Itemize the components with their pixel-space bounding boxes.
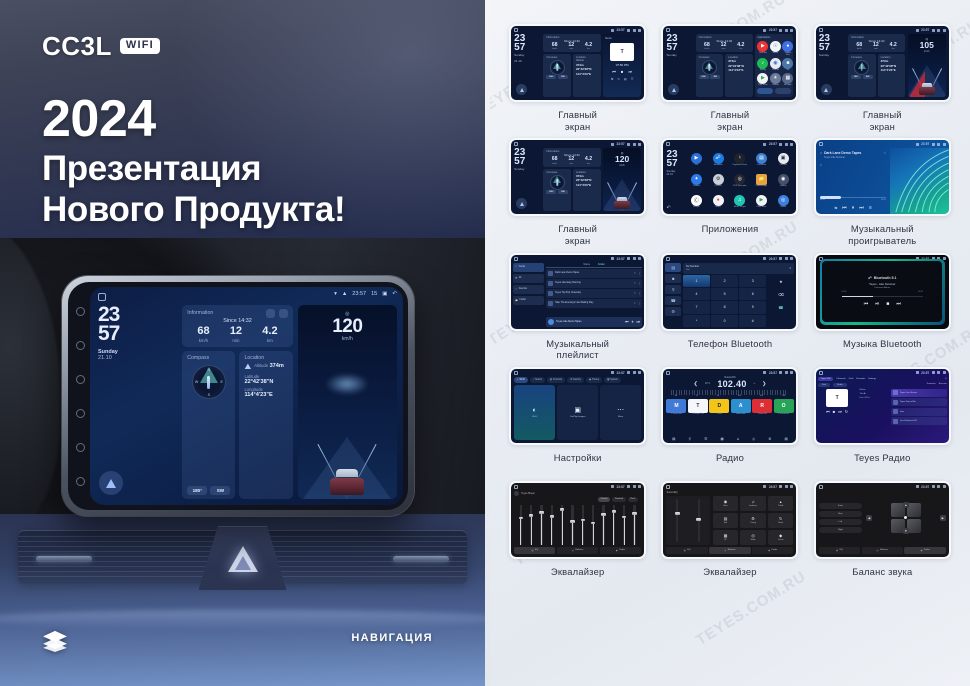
compass-widget[interactable]: Compass 180°SW <box>696 54 724 97</box>
app-item[interactable]: ●Maps <box>713 195 724 209</box>
home-icon[interactable] <box>666 371 670 375</box>
key-tuning[interactable]: ⚙Tuning <box>740 513 766 528</box>
location-widget[interactable]: Location 374m 22°42'38"N 114°4'23"E <box>573 169 601 212</box>
app-item[interactable]: ⒸEasyB <box>691 195 702 209</box>
app-shortcut[interactable]: ▶YouTube <box>757 41 768 57</box>
tab-theme[interactable]: ◉Theme <box>586 377 602 383</box>
backspace-icon[interactable]: ⌫ <box>767 288 794 300</box>
app-shortcut[interactable]: ▶Play Store <box>757 73 768 87</box>
navigation-launch-button[interactable] <box>668 84 679 95</box>
spotify-icon[interactable]: ♪ <box>757 58 768 69</box>
radio-tabbar[interactable]: ▤ ⚲ ☰ ▦ ● ◎ ⚙ ▤ <box>665 436 794 441</box>
maps-pin-icon[interactable]: ● <box>713 195 724 206</box>
back-icon[interactable]: ↶ <box>666 205 670 211</box>
dialpad-key[interactable]: 0 <box>711 315 738 327</box>
filter-recents[interactable]: Recents <box>939 383 947 387</box>
tab-balance[interactable]: ◎Balance <box>862 547 903 554</box>
sidebar-item-favorite[interactable]: ♡Favorite <box>513 285 544 294</box>
app-item[interactable]: ▶Car <box>691 153 702 167</box>
app-item[interactable]: ♮Keyboard Voice <box>733 153 748 167</box>
preset[interactable]: T2 Europa Plus <box>688 399 708 416</box>
head-unit-screen[interactable]: ▾ ▲ 23:57 15 ▣ ↶ 23 57 Sunday <box>90 287 403 505</box>
next-icon[interactable]: ⏭ <box>637 319 641 324</box>
next-icon[interactable]: ⏭ <box>628 69 632 74</box>
slider[interactable] <box>676 499 678 542</box>
screenshot-icon[interactable]: ▣ <box>382 291 387 297</box>
tab-teyes-fm[interactable]: Teyes FM <box>818 377 833 381</box>
playlist-icon[interactable]: ☰ <box>869 206 872 210</box>
tab-fader[interactable]: ◉Fader <box>600 547 641 554</box>
contacts-icon[interactable]: ☻ <box>665 274 680 283</box>
eq-band-slider[interactable] <box>633 496 635 545</box>
prev-icon[interactable]: ⏮ <box>612 69 616 74</box>
home-icon[interactable] <box>514 142 518 146</box>
prev-icon[interactable]: ⏮ <box>842 205 847 211</box>
dialpad-icon[interactable]: ▤ <box>665 263 680 272</box>
list-icon[interactable]: ☰ <box>704 437 707 441</box>
app-item[interactable]: ⚙Canbus <box>713 174 724 188</box>
chevron-right-icon[interactable]: ❯ <box>762 381 766 387</box>
play-pause-icon[interactable]: ⏯ <box>875 301 879 307</box>
mute-key-icon[interactable] <box>76 477 85 486</box>
radio-icon[interactable]: ◎ <box>778 195 789 206</box>
radio-ui[interactable]: Russia FM ❮ CH 1 102.40 ━ ❯ 8892 96100 <box>665 377 794 441</box>
key-center[interactable]: ◆Center <box>768 530 794 545</box>
app-item[interactable]: ♫Music Player <box>734 195 746 209</box>
navigation-launch-button[interactable] <box>516 198 527 209</box>
speed-widget[interactable]: ◎ 120 km/h <box>298 305 397 499</box>
eq-band-slider[interactable] <box>551 496 553 545</box>
compass-widget[interactable]: Compass 180°SW <box>543 54 571 97</box>
grid-cell[interactable]: 23:57 Sound EQ ◉Bass ♫Loudness ▴Trebl <box>658 481 801 589</box>
thumbnail-settings[interactable]: 23:57 ◐Wi-Fi ♪Sound ▤Common ⚙Factory ◉Th… <box>511 369 644 443</box>
dialpad-key[interactable]: # <box>739 315 766 327</box>
speaker-left[interactable]: Left <box>819 519 862 525</box>
media-widget[interactable]: Media T 07:50 PM ⏮ ■ ⏭ ⇆↻▤☰ <box>603 34 641 97</box>
media-extra-controls[interactable]: ⇆↻▤☰ <box>611 77 634 81</box>
filter-disk[interactable]: Disk <box>818 383 830 387</box>
playlist-tabs[interactable]: Name Folder <box>546 263 642 268</box>
teyes-radio-tabs[interactable]: Teyes FM Channels Zvuk Favorites Setting… <box>818 377 947 381</box>
play-store-icon[interactable]: ▶ <box>756 195 767 206</box>
next-icon[interactable]: ⏭ <box>859 205 864 211</box>
home-icon[interactable] <box>514 28 518 32</box>
home-icon[interactable] <box>666 142 670 146</box>
equalizer-sliders-ui[interactable]: Sound EQ ◉Bass ♫Loudness ▴Treble ▤Sub <box>666 491 793 554</box>
am-button[interactable]: ▦ <box>720 437 723 441</box>
app-shortcut[interactable]: ●Yandex Nav <box>782 41 793 57</box>
app-item[interactable]: ◎Radio <box>778 195 789 209</box>
app-shortcut[interactable]: ♪Spotify <box>757 58 768 72</box>
compass-widget[interactable]: Compass 180°SW <box>543 169 571 212</box>
search-icon[interactable]: ⚲ <box>689 437 691 441</box>
thumbnail-radio[interactable]: 23:57 Russia FM ❮ CH 1 102.40 ━ ❯ 8892 <box>663 369 796 443</box>
tab-eq[interactable]: ▤EQ <box>514 547 555 554</box>
all-apps-icon[interactable]: ▦ <box>782 73 793 84</box>
head-unit-side-keys[interactable] <box>72 294 88 498</box>
dvr-recorder-icon[interactable]: ◎ <box>734 174 745 185</box>
stop-icon[interactable]: ■ <box>886 301 889 307</box>
more-icon[interactable]: ⋮ <box>638 282 640 285</box>
grid-cell[interactable]: 23:57 ◐Wi-Fi ♪Sound ▤Common ⚙Factory ◉Th… <box>506 367 649 475</box>
home-icon[interactable] <box>819 142 823 146</box>
information-widget[interactable]: Information Since 14:32 68km/h 12min 4.2… <box>543 148 600 166</box>
thumbnail-bt-phone[interactable]: 23:57 ▤ ☻ ⚲ ☎ ⚙ No Number <box>663 255 796 329</box>
thumbnail-music-playlist[interactable]: 23:57 ♫Tracks ☰All ♡Favorite 📁Folder Nam… <box>511 255 644 329</box>
app-item[interactable]: ✦Cleaner <box>691 174 702 188</box>
play-store-icon[interactable]: ▶ <box>757 73 768 84</box>
thumbnail-app-drawer[interactable]: 23:57 23 57 Sunday 21.10 ↶ ▶Car ☍Bluetoo… <box>663 140 796 214</box>
app-grid[interactable]: ▶Car ☍Bluetooth ♮Keyboard Voice ▤Calcula… <box>686 149 793 211</box>
speed-widget[interactable]: ◎ 105 km/h <box>908 34 946 97</box>
tab-name[interactable]: Name <box>584 263 590 266</box>
grid-cell[interactable]: 23:57 23 57 Sunday Information Since 14:… <box>506 138 649 246</box>
grid-cell[interactable]: 23:57 23 57 Sunday 21.10 Information <box>506 24 649 132</box>
tab-system[interactable]: ▦System <box>604 377 621 383</box>
dock-button-1[interactable] <box>757 88 773 94</box>
next-icon[interactable]: ⏭ <box>838 409 842 414</box>
search-icon[interactable]: ⚲ <box>665 285 680 294</box>
station-item[interactable]: Local Stations FM <box>891 417 947 425</box>
up-arrow-icon[interactable]: ▲ <box>903 502 909 508</box>
preset[interactable]: A4 Avtoradio <box>731 399 751 416</box>
home-icon[interactable] <box>819 371 823 375</box>
information-widget[interactable]: Information Since 14:32 68km/h 12min 4.2… <box>696 34 753 52</box>
app-item[interactable]: ☍Bluetooth <box>713 153 724 167</box>
heart-icon[interactable]: ♡ <box>634 272 636 275</box>
navigation-pin-icon[interactable]: ● <box>782 41 793 52</box>
prev-icon[interactable]: ⏮ <box>826 409 830 414</box>
star-icon[interactable]: ★ <box>767 275 794 287</box>
heart-icon[interactable]: ♡ <box>634 292 636 295</box>
tab-favorites[interactable]: Favorites <box>856 378 865 380</box>
cleaner-icon[interactable]: ✦ <box>691 174 702 185</box>
home-icon[interactable] <box>666 257 670 261</box>
playlist-sidebar[interactable]: ♫Tracks ☰All ♡Favorite 📁Folder <box>513 263 544 327</box>
eq-band-slider[interactable] <box>530 496 532 545</box>
teyes-radio-ui[interactable]: Teyes FM Channels Zvuk Favorites Setting… <box>818 377 947 441</box>
location-widget[interactable]: Location 374m 22°42'38"N 114°4'23"E <box>878 54 906 97</box>
balance-pad[interactable]: ▲ ▼ ◀ ▶ <box>866 503 946 533</box>
grid-cell[interactable]: 23:57 ♫Tracks ☰All ♡Favorite 📁Folder Nam… <box>506 253 649 361</box>
location-widget[interactable]: Location ⛰ Altitude 374m <box>239 351 292 499</box>
easyb-icon[interactable]: Ⓒ <box>691 195 702 206</box>
home-icon[interactable] <box>819 28 823 32</box>
stop-icon[interactable]: ■ <box>621 69 623 74</box>
key-3d[interactable]: ▦3D <box>713 530 739 545</box>
call-icon[interactable]: ☎ <box>767 301 794 313</box>
dock-row[interactable] <box>757 88 791 94</box>
key-mode[interactable]: ◎Mode <box>740 530 766 545</box>
grid-cell[interactable]: 23:57 Front Rear Left Right ▲ ▼ <box>811 481 954 589</box>
dialpad-key[interactable]: 9 <box>739 301 766 313</box>
settings-gear-icon[interactable] <box>266 309 275 318</box>
key-loudness[interactable]: ♫Loudness <box>740 496 766 511</box>
speaker-rear[interactable]: Rear <box>819 511 862 517</box>
settings-card-carplay[interactable]: ▣CarPlay Images <box>557 385 598 440</box>
youtube-icon[interactable]: ▶ <box>757 41 768 52</box>
home-icon[interactable] <box>514 485 518 489</box>
home-icon[interactable] <box>819 485 823 489</box>
tab-fader[interactable]: ◉Fader <box>752 547 793 554</box>
settings-card-more[interactable]: ⋯More <box>600 385 641 440</box>
settings-card-wifi[interactable]: ◐Wi-Fi <box>514 385 555 440</box>
app-item[interactable]: ◎DVR Recorder <box>733 174 747 188</box>
station-item[interactable]: Jazz <box>891 408 947 416</box>
dialpad-ui[interactable]: ▤ ☻ ⚲ ☎ ⚙ No Number Dial <box>665 263 794 327</box>
thumbnail-music-player[interactable]: 23:57 ♫ Dark Lane Demo Tapes Teyes Like … <box>816 140 949 214</box>
shuffle-icon[interactable]: ⇆ <box>834 206 837 210</box>
settings-tabs[interactable]: ◐Wi-Fi ♪Sound ▤Common ⚙Factory ◉Theme ▦S… <box>514 377 641 383</box>
sidebar-item-all[interactable]: ☰All <box>513 274 544 283</box>
music-player-ui[interactable]: ♫ Dark Lane Demo Tapes Teyes Like Summer… <box>816 148 949 214</box>
sidebar-item-folder[interactable]: 📁Folder <box>513 296 544 305</box>
tab-wifi[interactable]: ◐Wi-Fi <box>514 377 528 383</box>
key-reset[interactable]: ↻Reset <box>768 513 794 528</box>
tab-balance[interactable]: ◎Balance <box>557 547 598 554</box>
tab-eq[interactable]: ▤EQ <box>666 547 707 554</box>
dialpad-key[interactable]: 5 <box>711 288 738 300</box>
grid-cell[interactable]: 23:57 Russia FM ❮ CH 1 102.40 ━ ❯ 8892 <box>658 367 801 475</box>
thumbnail-equalizer-sliders[interactable]: 23:57 Sound EQ ◉Bass ♫Loudness ▴Trebl <box>663 483 796 557</box>
information-widget[interactable]: Information Since 14:32 <box>182 305 292 347</box>
location-widget[interactable]: Location 374m 22°42'38"N 114°4'23"E <box>725 54 753 97</box>
tab-sound[interactable]: ♪Sound <box>530 377 545 383</box>
eq-band-slider[interactable] <box>602 496 604 545</box>
eq-band-slider[interactable] <box>540 496 542 545</box>
progress-bar[interactable] <box>820 197 886 198</box>
dialpad-key[interactable]: 8 <box>711 301 738 313</box>
dialpad-key[interactable]: * <box>683 315 710 327</box>
location-widget[interactable]: Location Altitude 374m 22°42'38"N 114°4'… <box>573 54 601 97</box>
home-icon[interactable] <box>666 485 670 489</box>
prev-icon[interactable]: ⏮ <box>864 301 869 307</box>
key-sub[interactable]: ▤Sub <box>713 513 739 528</box>
tab-factory[interactable]: ⚙Factory <box>567 377 584 383</box>
keyboard-voice-icon[interactable]: ♮ <box>734 153 745 164</box>
pause-icon[interactable]: ⏸ <box>852 205 855 211</box>
gallery-icon[interactable]: ☀ <box>770 73 781 84</box>
sound-option-keys[interactable]: ◉Bass ♫Loudness ▴Treble ▤Sub ⚙Tuning ↻Re… <box>713 496 794 545</box>
preset[interactable]: R5 Retro FM <box>752 399 772 416</box>
app-item[interactable]: ◉Gallery <box>778 174 789 188</box>
thumbnail-bt-music[interactable]: 23:57 ☍Bluetooth 5.1 Teyes - Like Summer… <box>816 255 949 329</box>
frequency-row[interactable]: ❮ CH 1 102.40 ━ ❯ <box>665 379 794 389</box>
information-widget[interactable]: Information Since 14:32 68km/h 12min 4.2… <box>848 34 905 52</box>
right-arrow-icon[interactable]: ▶ <box>940 515 946 521</box>
information-widget[interactable]: Information Since 14:32 68km/h 12min 4.2… <box>543 34 600 52</box>
station-item[interactable]: Teyes Dance Mix <box>891 398 947 406</box>
chevron-left-icon[interactable]: ❮ <box>694 381 698 387</box>
app-shortcut[interactable]: ■VK <box>782 58 793 72</box>
prev-icon[interactable]: ⏮ <box>625 319 629 324</box>
tab-zvuk[interactable]: Zvuk <box>849 378 854 380</box>
menu-key-icon[interactable] <box>76 341 85 350</box>
playlist-ui[interactable]: ♫Tracks ☰All ♡Favorite 📁Folder Name Fold… <box>513 263 642 327</box>
band-button[interactable]: ▤ <box>672 437 675 441</box>
app-shortcut-grid[interactable]: ▶YouTube ☉Safari ●Yandex Nav ♪Spotify ◉C… <box>757 41 791 87</box>
navigation-launch-button[interactable] <box>99 471 123 495</box>
shuffle-icon[interactable]: ⇆ <box>611 77 614 81</box>
call-history-icon[interactable]: ☎ <box>665 296 680 305</box>
dialpad-key[interactable]: 2 <box>711 275 738 287</box>
speaker-list[interactable]: Front Rear Left Right <box>819 503 862 533</box>
settings-ui[interactable]: ◐Wi-Fi ♪Sound ▤Common ⚙Factory ◉Theme ▦S… <box>514 377 641 440</box>
station-item[interactable]: Teyes Live Stream <box>891 389 947 397</box>
app-shortcut[interactable]: ▦All apps <box>782 73 793 87</box>
tune-icon[interactable]: ━ <box>754 382 755 385</box>
equalizer-tabs[interactable]: ▤EQ ◎Balance ◉Fader <box>819 547 946 554</box>
close-icon[interactable]: ✕ <box>789 267 791 270</box>
teyes-radio-filters[interactable]: Disk Radio Favorites Recents <box>818 383 947 387</box>
repeat-icon[interactable]: ↻ <box>617 77 620 81</box>
close-icon[interactable]: ✕ <box>945 377 947 380</box>
slider[interactable] <box>698 499 700 542</box>
grid-cell[interactable]: 23:57 ♫ Dark Lane Demo Tapes Teyes Like … <box>811 138 954 246</box>
grid-cell[interactable]: 23:57 23 57 Sunday 21.10 ↶ ▶Car ☍Bluetoo… <box>658 138 801 246</box>
app-shortcut[interactable]: ◉Chrome <box>770 58 781 72</box>
tab-eq[interactable]: ▤EQ <box>819 547 860 554</box>
key-bass[interactable]: ◉Bass <box>713 496 739 511</box>
eq-band-slider[interactable] <box>571 496 573 545</box>
tab-balance[interactable]: ◎Balance <box>709 547 750 554</box>
eq-band-slider[interactable] <box>623 496 625 545</box>
radio-presets[interactable]: M1 Russia FM T2 Europa Plus D3 DFM A4 Av… <box>665 399 794 416</box>
phone-sidebar[interactable]: ▤ ☻ ⚲ ☎ ⚙ <box>665 263 680 327</box>
repeat-icon[interactable]: ↻ <box>845 409 848 414</box>
playlist-row[interactable]: Teyes Like Easy Morning♡⋮ <box>546 279 642 288</box>
volume-up-key-icon[interactable] <box>76 375 85 384</box>
reset-icon[interactable] <box>279 309 288 318</box>
playlist-row[interactable]: Dark Lane Demo Tapes♡⋮ <box>546 269 642 278</box>
volume-down-key-icon[interactable] <box>76 409 85 418</box>
eq-band-slider[interactable] <box>613 496 615 545</box>
settings-icon[interactable]: ⚙ <box>665 307 680 316</box>
playback-controls[interactable]: ⏮ ■ ⏭ ↻ <box>826 409 848 414</box>
playlist-row[interactable]: Teyes Top Pop Yesterday♡⋮ <box>546 289 642 298</box>
speaker-front[interactable]: Front <box>819 503 862 509</box>
eq-icon[interactable]: ▤ <box>624 77 627 81</box>
thumbnail-sound-balance[interactable]: 23:57 Front Rear Left Right ▲ ▼ <box>816 483 949 557</box>
app-item[interactable]: ▣Camera <box>778 153 789 167</box>
preset[interactable]: O6 Dorozhnoe <box>774 399 794 416</box>
tab-common[interactable]: ▤Common <box>547 377 566 383</box>
fm-button[interactable]: ● <box>737 437 739 441</box>
camera-icon[interactable]: ▣ <box>778 153 789 164</box>
sound-sliders[interactable] <box>666 496 709 545</box>
speaker-right[interactable]: Right <box>819 527 862 533</box>
layers-icon[interactable] <box>42 630 68 652</box>
playlist-main[interactable]: Name Folder Dark Lane Demo Tapes♡⋮ Teyes… <box>546 263 642 327</box>
tab-fader[interactable]: ◉Fader <box>904 547 945 554</box>
tab-folder[interactable]: Folder <box>598 263 605 266</box>
equalizer-tabs[interactable]: ▤EQ ◎Balance ◉Fader <box>666 547 793 554</box>
compass-widget[interactable]: Compass N S E W <box>182 351 235 499</box>
vk-icon[interactable]: ■ <box>782 58 793 69</box>
now-playing-bar[interactable]: Teyes Like Demo Tapes ⏮ ⏸ ⏭ <box>546 317 642 327</box>
thumbnail-home-apps[interactable]: 23:57 23 57 Sunday Information Since 14:… <box>663 26 796 100</box>
grid-cell[interactable]: 23:57 ▤ ☻ ⚲ ☎ ⚙ No Number <box>658 253 801 361</box>
app-shortcut[interactable]: ☉Safari <box>770 41 781 57</box>
station-list[interactable]: Teyes Live Stream Teyes Dance Mix Jazz L… <box>891 389 947 441</box>
preset[interactable]: D3 DFM <box>709 399 729 416</box>
playlist-row[interactable]: Take The Evening's Like Waiting Stay♡⋮ <box>546 299 642 308</box>
equalizer-ui[interactable]: Teyes Player Custom Standard Rock <box>514 491 641 554</box>
down-arrow-icon[interactable]: ▼ <box>903 528 909 534</box>
home-icon[interactable] <box>98 293 106 301</box>
file-manager-icon[interactable]: 📁 <box>756 174 767 185</box>
preset[interactable]: M1 Russia FM <box>666 399 686 416</box>
media-controls[interactable]: ⏮ ■ ⏭ <box>612 69 632 74</box>
grid-cell[interactable]: 23:57 Teyes FM Channels Zvuk Favorites S… <box>811 367 954 475</box>
grid-cell[interactable]: 23:57 23 57 Sunday Information Since 14:… <box>658 24 801 132</box>
thumbnail-home-speed-105[interactable]: 23:57 23 57 Sunday Information Since 14:… <box>816 26 949 100</box>
speed-widget[interactable]: ◎ 120 km/h <box>603 148 641 211</box>
progress-bar[interactable] <box>842 296 924 297</box>
grid-cell[interactable]: 23:57 Teyes Player Custom Standard Rock <box>506 481 649 589</box>
list-icon[interactable]: ☰ <box>631 77 634 81</box>
home-icon[interactable] <box>514 257 518 261</box>
lyrics-icon[interactable]: ♪ <box>820 162 886 167</box>
more-icon[interactable]: ⋮ <box>638 272 640 275</box>
key-treble[interactable]: ▴Treble <box>768 496 794 511</box>
thumbnail-teyes-radio[interactable]: 23:57 Teyes FM Channels Zvuk Favorites S… <box>816 369 949 443</box>
equalizer-tabs[interactable]: ▤EQ ◎Balance ◉Fader <box>514 547 641 554</box>
phone-number-input[interactable]: No Number Dial ✕ <box>683 263 795 274</box>
set-button[interactable]: ⚙ <box>768 437 771 441</box>
navigation-launch-button[interactable] <box>516 84 527 95</box>
playback-controls[interactable]: ⏮ ⏯ ■ ⏭ <box>864 301 901 307</box>
eq-band-slider[interactable] <box>592 496 594 545</box>
heart-icon[interactable]: ♡ <box>634 302 636 305</box>
calculator-icon[interactable]: ▤ <box>756 153 767 164</box>
left-arrow-icon[interactable]: ◀ <box>866 515 872 521</box>
gallery-icon[interactable]: ◉ <box>778 174 789 185</box>
dialpad-key[interactable]: 4 <box>683 288 710 300</box>
filter-radio[interactable]: Radio <box>833 383 847 387</box>
chrome-icon[interactable]: ◉ <box>770 58 781 69</box>
heart-icon[interactable]: ♡ <box>634 282 636 285</box>
stop-icon[interactable]: ■ <box>833 409 835 414</box>
dialpad-main[interactable]: No Number Dial ✕ 1 2 3 ★ 4 <box>683 263 795 327</box>
pause-icon[interactable]: ⏸ <box>632 319 634 324</box>
app-shortcut[interactable]: ☀Gallery <box>770 73 781 87</box>
home-icon[interactable] <box>514 371 518 375</box>
compass-widget[interactable]: Compass 180°SW <box>848 54 876 97</box>
loc-button[interactable]: ◎ <box>752 437 755 441</box>
grid-cell[interactable]: 23:57 ☍Bluetooth 5.1 Teyes - Like Summer… <box>811 253 954 361</box>
safari-icon[interactable]: ☉ <box>770 41 781 52</box>
next-icon[interactable]: ⏭ <box>896 301 901 307</box>
thumbnail-home-media[interactable]: 23:57 23 57 Sunday 21.10 Information <box>511 26 644 100</box>
canbus-icon[interactable]: ⚙ <box>713 174 724 185</box>
more-icon[interactable]: ⋮ <box>638 302 640 305</box>
home-icon[interactable] <box>666 28 670 32</box>
favorite-icon[interactable]: ♡ <box>884 151 887 155</box>
eq-band-slider[interactable] <box>582 496 584 545</box>
dock-button-2[interactable] <box>775 88 791 94</box>
app-item[interactable]: ▤Calculator <box>756 153 767 167</box>
bt-music-ui[interactable]: ☍Bluetooth 5.1 Teyes - Like Summer Unkno… <box>820 259 945 325</box>
power-key-icon[interactable] <box>76 307 85 316</box>
sidebar-item-tracks[interactable]: ♫Tracks <box>513 263 544 272</box>
dialpad-key[interactable]: 3 <box>739 275 766 287</box>
app-shortcuts-widget[interactable]: Applications ▶YouTube ☉Safari ●Yandex Na… <box>755 34 793 97</box>
dialpad-keys[interactable]: 1 2 3 ★ 4 5 6 ⌫ 7 8 9 ☎ <box>683 275 795 327</box>
more-icon[interactable]: ⋮ <box>638 292 640 295</box>
dialpad-key[interactable]: 1 <box>683 275 710 287</box>
sound-balance-ui[interactable]: Front Rear Left Right ▲ ▼ ◀ ▶ <box>819 491 946 554</box>
